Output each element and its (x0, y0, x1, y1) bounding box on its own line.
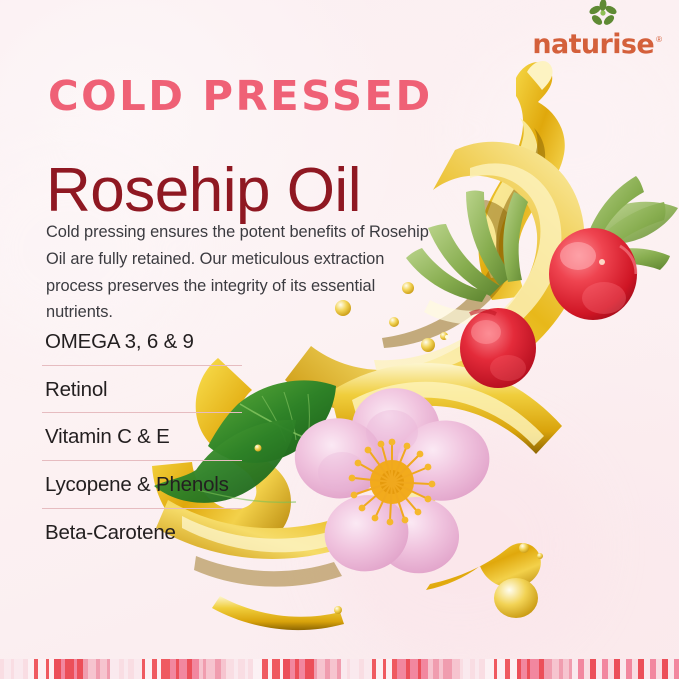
rose-blossom (290, 385, 495, 580)
footer-stripe (283, 659, 290, 679)
oil-ribbon-upper (478, 61, 564, 300)
footer-stripe (552, 659, 559, 679)
footer-stripe (674, 659, 679, 679)
sepal-group (406, 176, 670, 302)
footer-stripe (65, 659, 74, 679)
footer-stripe (497, 659, 505, 679)
benefits-list: OMEGA 3, 6 & 9 Retinol Vitamin C & E Lyc… (42, 326, 242, 555)
footer-stripe (510, 659, 517, 679)
footer-stripe (38, 659, 46, 679)
footer-stripe (54, 659, 61, 679)
footer-stripe (530, 659, 539, 679)
footer-stripe (206, 659, 215, 679)
footer-stripe (330, 659, 337, 679)
footer-stripe (272, 659, 280, 679)
footer-stripe (317, 659, 325, 679)
footer-stripe (376, 659, 383, 679)
footer-stripe (443, 659, 452, 679)
rosehip-berry-lower (460, 308, 536, 388)
brand-logo[interactable]: naturise ® (532, 14, 661, 58)
footer-stripe (544, 659, 552, 679)
green-flower-icon (588, 0, 618, 29)
footer-stripe-band (0, 659, 679, 679)
footer-stripe (179, 659, 187, 679)
trademark-symbol: ® (656, 35, 662, 44)
footer-stripe (134, 659, 142, 679)
footer-stripe (350, 659, 359, 679)
background-blob (330, 430, 590, 660)
footer-stripe (364, 659, 372, 679)
benefit-item: OMEGA 3, 6 & 9 (42, 326, 242, 366)
oil-ribbon-central (330, 363, 562, 454)
footer-stripe (452, 659, 460, 679)
footer-stripe (110, 659, 119, 679)
footer-stripe (100, 659, 107, 679)
footer-stripe (88, 659, 96, 679)
description-paragraph: Cold pressing ensures the potent benefit… (46, 219, 438, 325)
product-infographic: naturise ® COLD PRESSED Rosehip Oil Cold… (0, 0, 679, 679)
footer-stripe (485, 659, 494, 679)
background-blob (470, 40, 670, 220)
footer-stripe (4, 659, 11, 679)
stamen-group (349, 439, 436, 526)
footer-stripe (305, 659, 314, 679)
footer-stripe (161, 659, 170, 679)
footer-stripe (253, 659, 262, 679)
footer-stripe (145, 659, 152, 679)
page-title: Rosehip Oil (46, 158, 361, 223)
kicker-heading: COLD PRESSED (48, 76, 433, 117)
footer-stripe (397, 659, 406, 679)
rosehip-berry-upper (549, 228, 637, 320)
footer-stripe (238, 659, 245, 679)
footer-stripe (410, 659, 418, 679)
footer-stripe (421, 659, 428, 679)
petal-group (290, 385, 495, 580)
benefit-item: Vitamin C & E (42, 413, 242, 461)
brand-logo-wordmark: naturise (532, 31, 654, 58)
footer-stripe (226, 659, 234, 679)
benefit-item: Beta-Carotene (42, 509, 242, 556)
benefit-item: Retinol (42, 366, 242, 414)
footer-stripe (14, 659, 23, 679)
benefit-item: Lycopene & Phenols (42, 461, 242, 509)
footer-stripe (192, 659, 199, 679)
footer-stripe (463, 659, 470, 679)
